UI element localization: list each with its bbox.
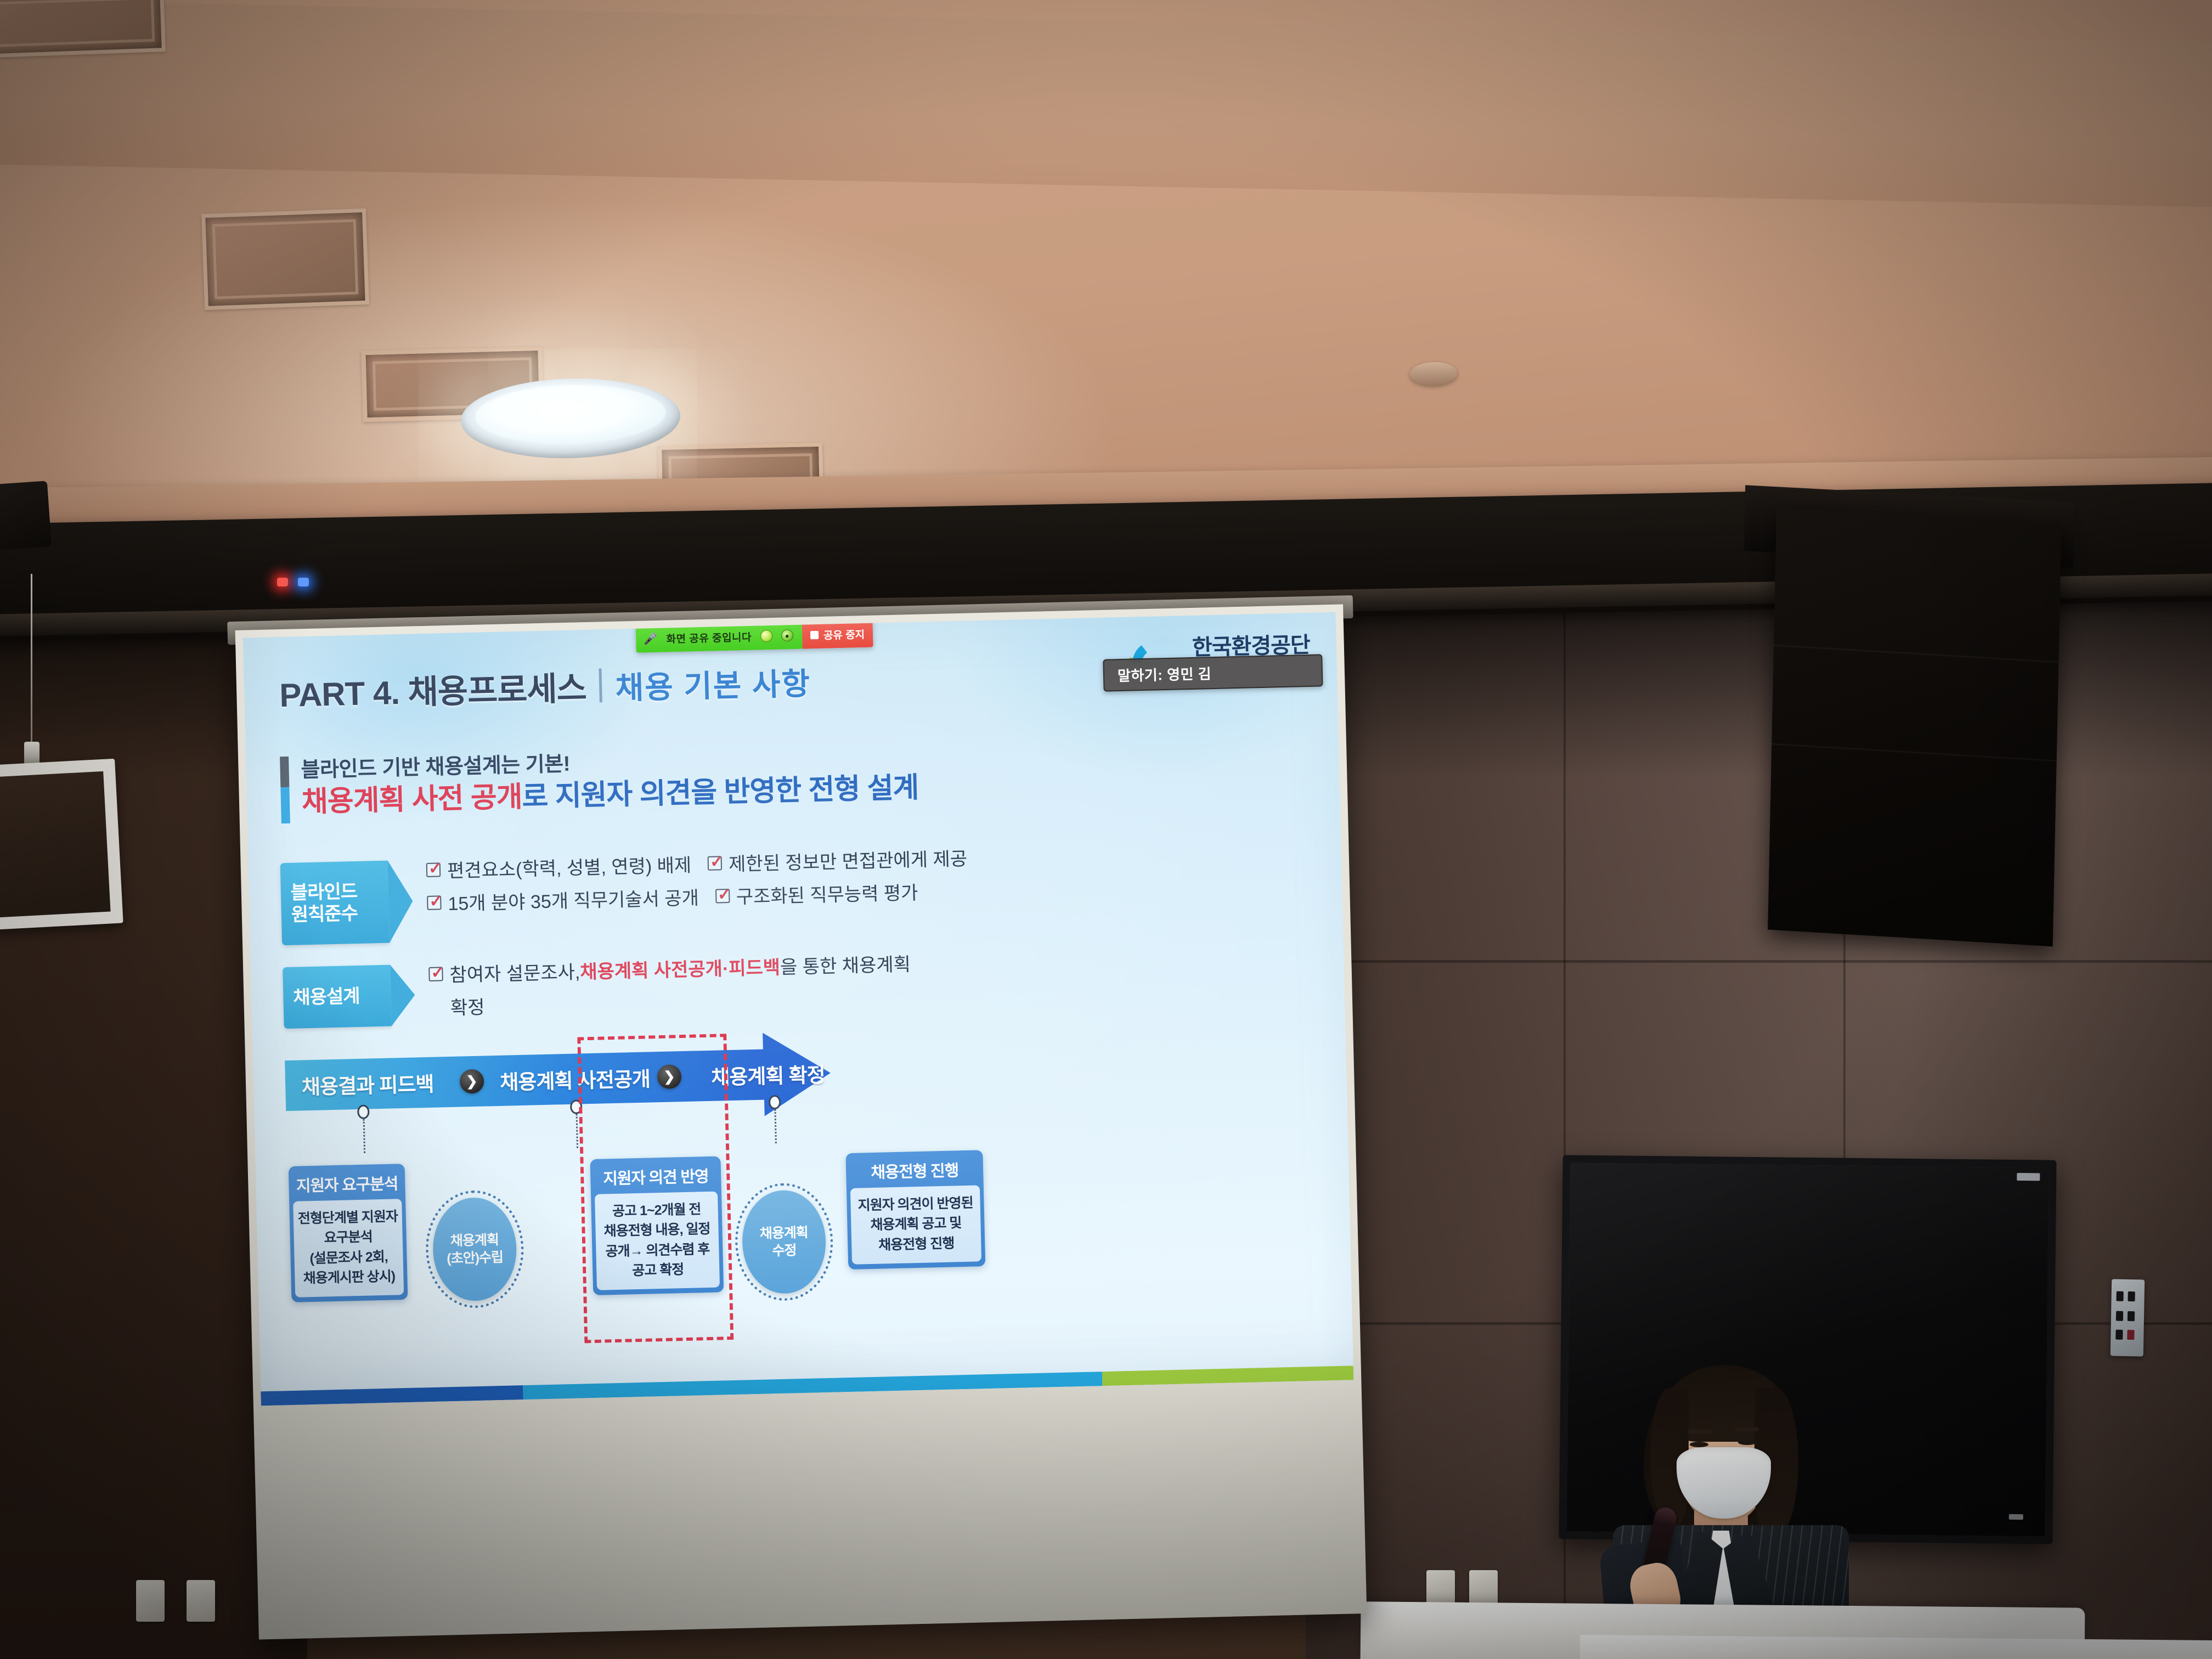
process-ellipse: 채용계획 (초안)수립 [432, 1197, 517, 1302]
ellipse-line1: 채용계획 [450, 1231, 499, 1250]
title-divider [599, 668, 602, 702]
headline-accent-bars [280, 753, 290, 823]
ellipse-line1: 채용계획 [759, 1223, 808, 1243]
lecture-hall-photo: 🎤 화면 공유 중입니다 ● 공유 중지 한국환경공단 말하기: 영민 김 [0, 0, 2212, 1659]
connector-line [576, 1114, 578, 1148]
wall-frame [0, 759, 123, 932]
checkbox-icon [715, 889, 730, 904]
detail-card: 지원자 의견 반영 공고 1~2개월 전 채용전형 내용, 일정 공개→ 의견수… [590, 1156, 724, 1295]
checkbox-icon [427, 895, 442, 910]
checkbox-icon [426, 862, 441, 877]
ceiling-vent-icon [201, 208, 369, 310]
av-wall-plate-icon[interactable] [2111, 1279, 2145, 1356]
ellipse-line2: 수정 [772, 1242, 797, 1260]
card-title: 지원자 요구분석 [292, 1167, 402, 1201]
headline-emphasis: 채용계획 사전 공개 [301, 781, 522, 818]
ceiling-slope [0, 0, 2212, 207]
block-tag-line2: 원칙준수 [291, 902, 378, 926]
wall-outlet-icon[interactable] [136, 1580, 165, 1622]
process-node [357, 1105, 370, 1120]
bullet-text-emphasis: 채용계획 사전공개·피드백 [580, 956, 781, 985]
bullet-text: 편견요소(학력, 성별, 연령) 배제 [447, 854, 692, 884]
block-tag-blind: 블라인드 원칙준수 [280, 861, 390, 946]
process-step-2: 채용계획 사전공개 [492, 1052, 658, 1106]
ceiling-speaker-icon [1768, 507, 2062, 947]
card-title: 지원자 의견 반영 [594, 1160, 718, 1194]
bullet-text-pre: 참여자 설문조사, [449, 960, 580, 988]
stop-share-button[interactable]: 공유 중지 [802, 620, 873, 649]
bullet-row: 참여자 설문조사, 채용계획 사전공개·피드백을 통한 채용계획 [428, 952, 911, 989]
bullet-text-post: 을 통한 채용계획 [780, 952, 911, 980]
blind-rows: 편견요소(학력, 성별, 연령) 배제 제한된 정보만 면접관에게 제공 15개… [426, 847, 969, 926]
light-lens [474, 382, 667, 446]
share-status-label: 화면 공유 중입니다 [666, 629, 752, 646]
bullet-row-cont: 확정 [450, 985, 911, 1022]
stop-square-icon [810, 631, 819, 639]
process-ellipse: 채용계획 수정 [741, 1189, 827, 1295]
projector-icon [0, 481, 52, 550]
card-body: 전형단계별 지원자 요구분석 (설문조사 2회, 채용게시판 상시) [293, 1199, 404, 1297]
checkbox-icon [428, 967, 443, 981]
presentation-slide: 🎤 화면 공유 중입니다 ● 공유 중지 한국환경공단 말하기: 영민 김 [243, 612, 1353, 1406]
hanging-cable [31, 574, 32, 744]
card-body: 공고 1~2개월 전 채용전형 내용, 일정 공개→ 의견수렴 후 공고 확정 [595, 1192, 720, 1290]
audio-indicator-icon[interactable] [760, 630, 773, 642]
bullet-row: 15개 분야 35개 직무기술서 공개 구조화된 직무능력 평가 [427, 880, 968, 918]
checkbox-icon [708, 856, 723, 871]
eyebrow-left [1688, 1430, 1712, 1434]
card-body: 지원자 의견이 반영된 채용계획 공고 및 채용전형 진행 [850, 1185, 981, 1264]
content-block-blind: 블라인드 원칙준수 편견요소(학력, 성별, 연령) 배제 제한된 정보만 면접… [280, 847, 969, 945]
video-indicator-icon[interactable]: ● [781, 629, 794, 642]
process-step-3: 채용계획 확정 [685, 1047, 851, 1102]
bullet-segment: 구조화된 직무능력 평가 [715, 881, 918, 911]
design-rows: 참여자 설문조사, 채용계획 사전공개·피드백을 통한 채용계획 확정 [428, 952, 912, 1029]
slide-header: PART 4. 채용프로세스 채용 기본 사항 [279, 656, 811, 716]
headline-rest: 로 지원자 의견을 반영한 전형 설계 [522, 772, 919, 813]
bullet-text: 15개 분야 35개 직무기술서 공개 [448, 886, 699, 917]
status-led-icon [298, 578, 309, 586]
bullet-text: 제한된 정보만 면접관에게 제공 [729, 847, 968, 878]
detail-card: 채용전형 진행 지원자 의견이 반영된 채용계획 공고 및 채용전형 진행 [845, 1150, 985, 1269]
eye-left [1690, 1442, 1708, 1447]
ellipse-line2: (초안)수립 [447, 1249, 503, 1268]
block-tag-line1: 채용설계 [293, 985, 380, 1009]
process-node [570, 1099, 583, 1114]
active-speaker-badge: 말하기: 영민 김 [1103, 654, 1323, 691]
slide-subtitle: 채용 기본 사항 [615, 659, 811, 708]
stop-share-label: 공유 중지 [823, 627, 865, 642]
process-step-1: 채용결과 피드백 [285, 1057, 450, 1111]
page-title: PART 4. 채용프로세스 [279, 662, 586, 716]
card-title: 채용전형 진행 [850, 1154, 980, 1188]
connector-line [363, 1119, 365, 1153]
eye-right [1738, 1440, 1757, 1445]
bullet-row: 편견요소(학력, 성별, 연령) 배제 제한된 정보만 면접관에게 제공 [426, 847, 968, 885]
content-block-design: 채용설계 참여자 설문조사, 채용계획 사전공개·피드백을 통한 채용계획 확정 [283, 952, 912, 1033]
block-tag-design: 채용설계 [283, 965, 392, 1029]
process-arrow: 채용결과 피드백 ❯ 채용계획 사전공개 ❯ 채용계획 확정 [285, 1048, 834, 1111]
bullet-text: 구조화된 직무능력 평가 [736, 881, 918, 911]
projection-screen: 🎤 화면 공유 중입니다 ● 공유 중지 한국환경공단 말하기: 영민 김 [235, 604, 1367, 1639]
monitor-brand-badge [2017, 1173, 2040, 1181]
monitor-led-icon [2009, 1514, 2023, 1520]
block-tag-line1: 블라인드 [290, 880, 377, 904]
wall-outlet-icon[interactable] [187, 1580, 215, 1622]
bullet-segment: 제한된 정보만 면접관에게 제공 [708, 847, 968, 878]
headline-block: 블라인드 기반 채용설계는 기본! 채용계획 사전 공개로 지원자 의견을 반영… [280, 738, 919, 823]
smoke-detector-icon [1409, 362, 1457, 386]
bullet-text-line2: 확정 [450, 995, 485, 1021]
detail-card: 지원자 요구분석 전형단계별 지원자 요구분석 (설문조사 2회, 채용게시판 … [289, 1164, 408, 1302]
eyebrow-right [1735, 1427, 1759, 1431]
power-led-icon [277, 578, 288, 586]
ceiling-vent-icon [0, 0, 166, 58]
microphone-icon: 🎤 [644, 631, 658, 646]
